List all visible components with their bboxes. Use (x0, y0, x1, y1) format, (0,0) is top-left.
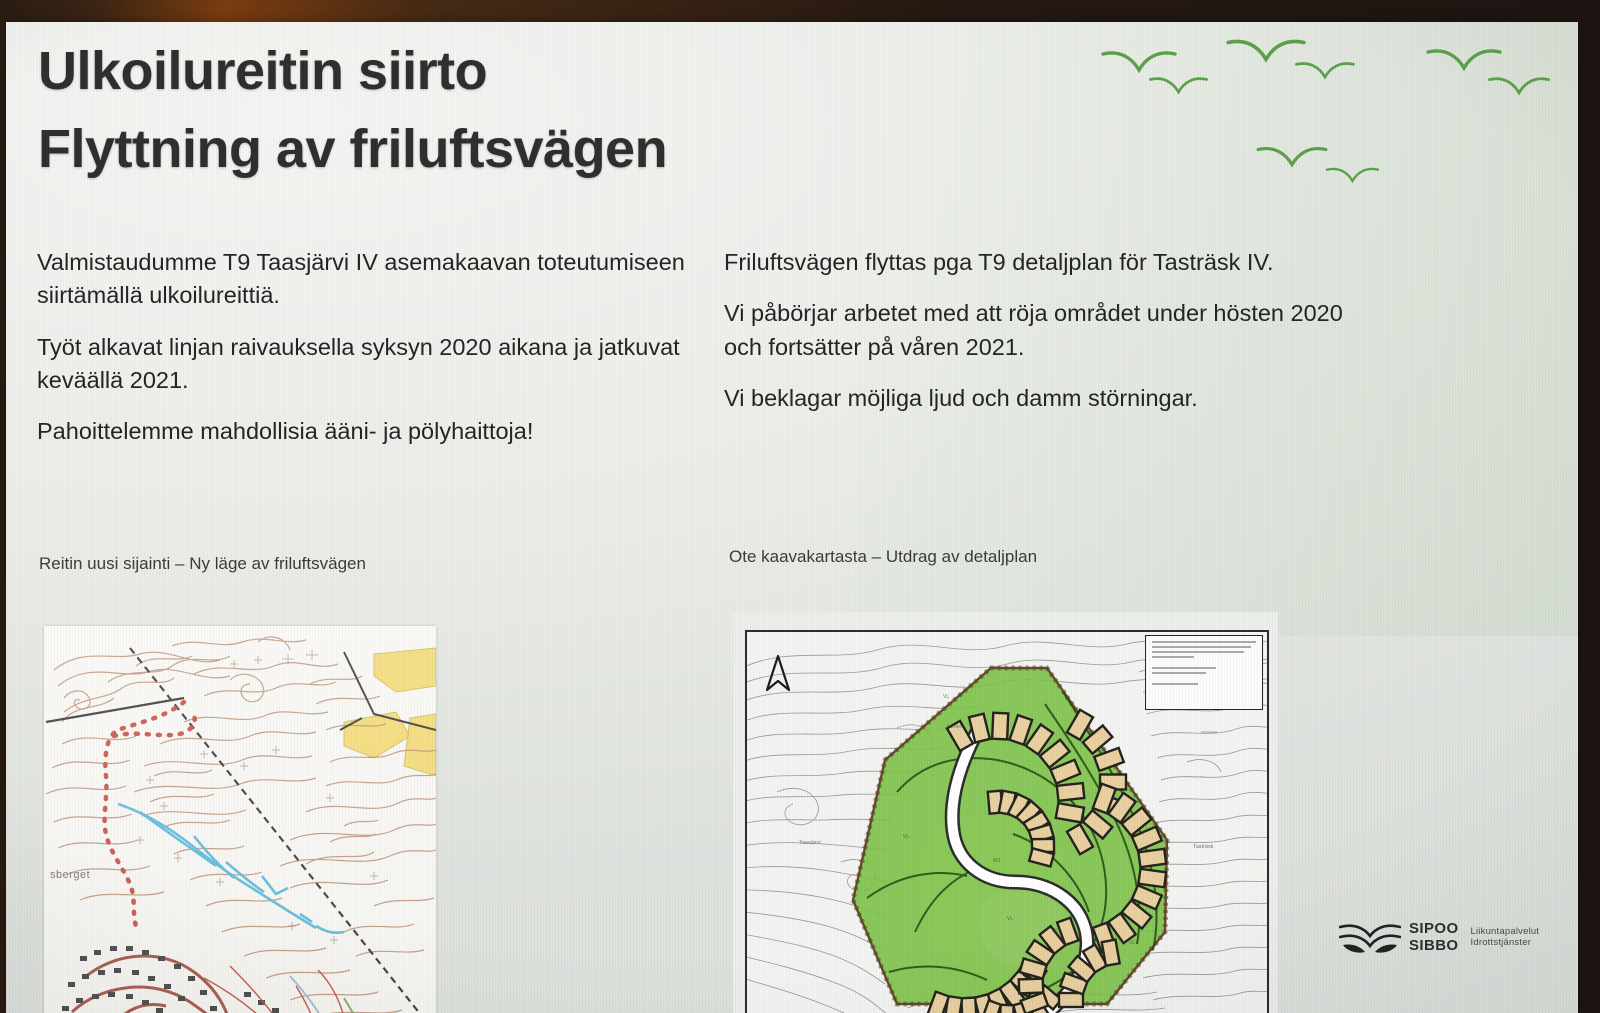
svg-text:VL: VL (1007, 916, 1013, 922)
logo-name-fi: SIPOO (1409, 921, 1459, 938)
bird-icon (1294, 58, 1356, 85)
north-arrow-icon (765, 654, 791, 692)
paragraph-fi-2: Työt alkavat linjan raivauksella syksyn … (37, 331, 687, 398)
svg-text:AO: AO (1053, 928, 1060, 934)
photo-bezel: Ulkoilureitin siirto Flyttning av friluf… (0, 0, 1600, 1013)
paragraph-fi-1: Valmistaudumme T9 Taasjärvi IV asemakaav… (37, 246, 687, 313)
plan-plot (992, 713, 1008, 740)
svg-text:— — —: — — — (1185, 774, 1205, 780)
svg-text:Tasträsk: Tasträsk (1193, 844, 1214, 850)
plan-plot (961, 998, 976, 1013)
svg-text:VL: VL (943, 694, 949, 700)
svg-text:VL: VL (903, 834, 909, 840)
paragraph-sv-3: Vi beklagar möjliga ljud och damm störni… (724, 382, 1344, 415)
plan-plot (1138, 849, 1166, 867)
plan-plot (1056, 803, 1084, 822)
text-column-finnish: Valmistaudumme T9 Taasjärvi IV asemakaav… (37, 246, 687, 467)
plan-legend-box (1145, 635, 1263, 710)
slide-title-fi: Ulkoilureitin siirto (38, 40, 487, 102)
plan-plot (1059, 993, 1083, 1007)
plan-plot (1102, 940, 1120, 966)
bird-icon (1255, 142, 1329, 174)
caption-right-map: Ote kaavakartasta – Utdrag av detaljplan (729, 547, 1037, 567)
caption-left-map: Reitin uusi sijainti – Ny läge av friluf… (39, 554, 366, 574)
svg-text:VL: VL (1129, 940, 1135, 946)
plan-plot (1019, 979, 1043, 994)
topo-place-label: sberget (50, 869, 90, 881)
paragraph-sv-1: Friluftsvägen flyttas pga T9 detaljplan … (724, 246, 1344, 279)
sipoo-sibbo-logo: SIPOO SIBBO Liikuntapalvelut Idrottstjän… (1339, 921, 1539, 955)
plan-frame: VL VL AO VL AO VL kortteli Taasjärvi Tas… (745, 630, 1269, 1013)
logo-wordmark: SIPOO SIBBO (1409, 921, 1459, 955)
plan-plot (1057, 783, 1084, 801)
logo-service-lines: Liikuntapalvelut Idrottstjänster (1471, 927, 1540, 949)
slide-title-sv: Flyttning av friluftsvägen (38, 118, 667, 180)
paragraph-fi-3: Pahoittelemme mahdollisia ääni- ja pölyh… (37, 415, 687, 448)
bird-icon (1148, 73, 1209, 100)
topographic-map-image: sberget (44, 626, 436, 1013)
svg-text:Taasjärvi: Taasjärvi (799, 840, 821, 846)
topo-map-svg (44, 626, 436, 1013)
paragraph-sv-2: Vi påbörjar arbetet med att röja området… (724, 297, 1344, 364)
logo-service-sv: Idrottstjänster (1471, 938, 1540, 949)
logo-name-sv: SIBBO (1409, 938, 1459, 955)
seagull-logo-icon (1339, 921, 1401, 955)
presentation-slide: Ulkoilureitin siirto Flyttning av friluf… (6, 22, 1578, 1013)
svg-text:AO: AO (993, 858, 1000, 864)
bird-icon (1487, 73, 1551, 101)
svg-text:kortteli: kortteli (947, 724, 962, 730)
plan-plot (1138, 869, 1166, 887)
detail-plan-image: VL VL AO VL AO VL kortteli Taasjärvi Tas… (733, 612, 1278, 1013)
text-column-swedish: Friluftsvägen flyttas pga T9 detaljplan … (724, 246, 1344, 433)
bird-icon (1325, 164, 1380, 188)
